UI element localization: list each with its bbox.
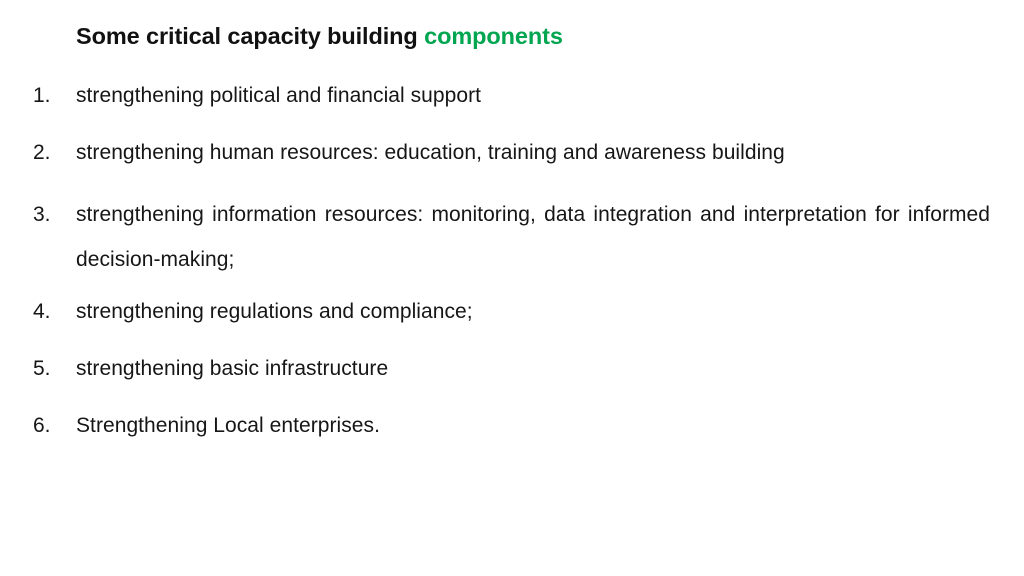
page-title: Some critical capacity building componen… xyxy=(76,21,976,51)
list-item-text: strengthening regulations and compliance… xyxy=(76,294,992,330)
list-item-number: 6. xyxy=(33,408,67,444)
page-title-accent-word: components xyxy=(424,23,563,49)
list-item-text: strengthening basic infrastructure xyxy=(76,351,992,387)
list-item-text: Strengthening Local enterprises. xyxy=(76,408,992,444)
list-item: 5. strengthening basic infrastructure xyxy=(0,351,1024,387)
list-item-text: strengthening information resources: mon… xyxy=(76,192,990,282)
list-item-number: 5. xyxy=(33,351,67,387)
list-item-number: 1. xyxy=(33,78,67,114)
capacity-building-components-list: 1. strengthening political and financial… xyxy=(0,78,1024,465)
list-item-number: 4. xyxy=(33,294,67,330)
list-item: 6. Strengthening Local enterprises. xyxy=(0,408,1024,444)
slide-canvas: Some critical capacity building componen… xyxy=(0,0,1024,576)
page-title-lead: Some critical capacity building xyxy=(76,23,418,49)
list-item: 2. strengthening human resources: educat… xyxy=(0,135,1024,171)
list-item-text: strengthening human resources: education… xyxy=(76,135,992,171)
list-item: 1. strengthening political and financial… xyxy=(0,78,1024,114)
list-item-number: 2. xyxy=(33,135,67,171)
list-item: 4. strengthening regulations and complia… xyxy=(0,294,1024,330)
list-item-text: strengthening political and financial su… xyxy=(76,78,992,114)
list-item-number: 3. xyxy=(33,192,67,237)
list-item: 3. strengthening information resources: … xyxy=(0,192,1024,282)
